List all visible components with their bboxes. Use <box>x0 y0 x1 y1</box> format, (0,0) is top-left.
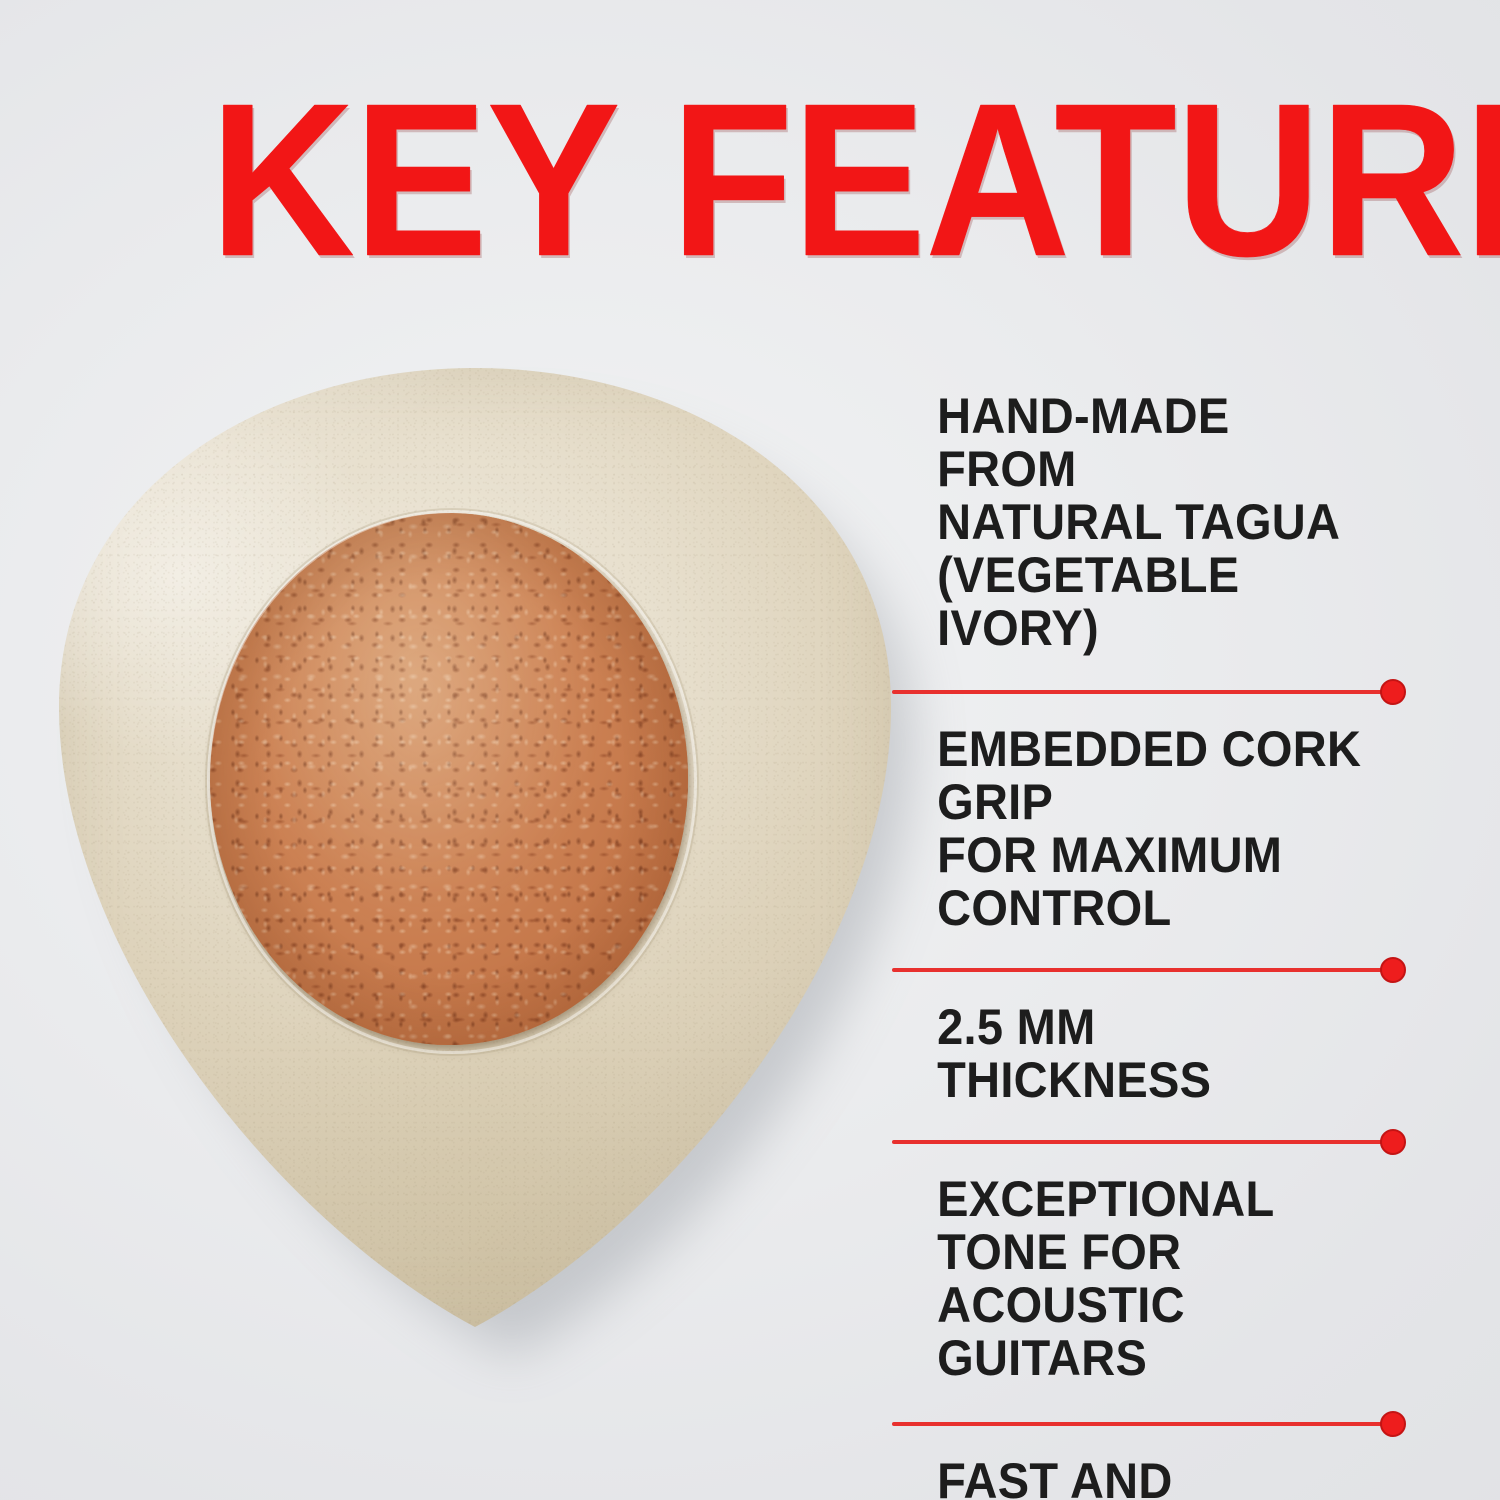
feature-label: FAST AND PRECISE FOR ELECTRIC PLAYING <box>892 1455 1381 1500</box>
feature-label: 2.5 MM THICKNESS <box>892 1001 1381 1107</box>
feature-list: HAND-MADE FROM NATURAL TAGUA (VEGETABLE … <box>892 390 1412 1500</box>
feature-item-hand-made-tagua: HAND-MADE FROM NATURAL TAGUA (VEGETABLE … <box>892 390 1412 655</box>
feature-label: HAND-MADE FROM NATURAL TAGUA (VEGETABLE … <box>892 390 1381 655</box>
divider-dot-icon <box>1380 1411 1406 1437</box>
feature-divider <box>892 957 1412 983</box>
feature-item-electric-playing: FAST AND PRECISE FOR ELECTRIC PLAYING <box>892 1455 1412 1500</box>
page-title: KEY FEATURES: <box>210 72 1500 290</box>
feature-item-embedded-cork-grip: EMBEDDED CORK GRIP FOR MAXIMUM CONTROL <box>892 723 1412 935</box>
feature-divider <box>892 1411 1412 1437</box>
divider-dot-icon <box>1380 957 1406 983</box>
feature-item-acoustic-tone: EXCEPTIONAL TONE FOR ACOUSTIC GUITARS <box>892 1173 1412 1385</box>
infographic-canvas: KEY FEATURES: HAND-MADE FROM NATURAL TAG… <box>0 0 1500 1500</box>
feature-label: EMBEDDED CORK GRIP FOR MAXIMUM CONTROL <box>892 723 1381 935</box>
feature-divider <box>892 679 1412 705</box>
cork-grip-inlay <box>210 513 688 1045</box>
feature-label: EXCEPTIONAL TONE FOR ACOUSTIC GUITARS <box>892 1173 1381 1385</box>
cork-vignette <box>210 513 688 1045</box>
divider-dot-icon <box>1380 679 1406 705</box>
divider-line <box>892 968 1394 972</box>
feature-divider <box>892 1129 1412 1155</box>
divider-dot-icon <box>1380 1129 1406 1155</box>
divider-line <box>892 1422 1394 1426</box>
divider-line <box>892 690 1394 694</box>
divider-line <box>892 1140 1394 1144</box>
feature-item-thickness: 2.5 MM THICKNESS <box>892 1001 1412 1107</box>
product-image-guitar-pick <box>20 355 900 1365</box>
